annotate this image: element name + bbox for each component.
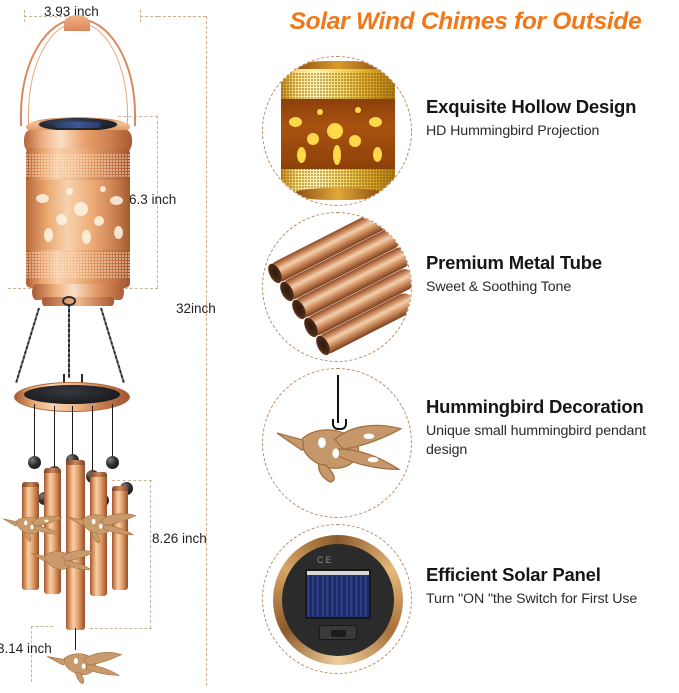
dim-line-width-right: [140, 16, 158, 17]
lantern-handle-peak: [64, 15, 90, 31]
feature-subtitle: Sweet & Soothing Tone: [426, 278, 679, 297]
chime-chain-left: [15, 308, 40, 383]
feature-image-solar-panel-top: CE: [262, 524, 412, 674]
feature-exquisite-hollow-design: Exquisite Hollow Design HD Hummingbird P…: [256, 56, 679, 206]
chime-chain-right: [100, 308, 125, 383]
feature-premium-metal-tube: Premium Metal Tube Sweet & Soothing Tone: [256, 212, 679, 362]
wind-chime-image: [0, 296, 200, 686]
feature-subtitle: Turn "ON "the Switch for First Use: [426, 590, 679, 609]
power-switch[interactable]: [319, 625, 357, 640]
features-panel: Solar Wind Chimes for Outside: [252, 0, 679, 693]
hummingbird-filigree: [275, 405, 403, 491]
chime-chain-center: [68, 304, 70, 378]
feature-hummingbird-decoration: Hummingbird Decoration Unique small humm…: [256, 368, 679, 518]
feature-image-glowing-hollow-lantern: [262, 56, 412, 206]
feature-subtitle: HD Hummingbird Projection: [426, 122, 679, 141]
chime-top-disc-inner: [24, 385, 120, 404]
hummingbird-ornament: [66, 504, 138, 544]
lantern-mesh-top: [26, 154, 130, 178]
solar-lantern-image: [8, 18, 148, 303]
feature-title: Premium Metal Tube: [426, 252, 679, 273]
chime-bead: [28, 456, 41, 469]
page-title: Solar Wind Chimes for Outside: [252, 8, 679, 36]
feature-title: Efficient Solar Panel: [426, 564, 679, 585]
solar-cell: [305, 569, 371, 619]
hummingbird-ornament: [2, 508, 64, 542]
feature-title: Hummingbird Decoration: [426, 396, 679, 417]
lantern-motif-band: [26, 180, 130, 250]
dim-line-total-upper: [206, 16, 207, 303]
product-photo-panel: 3.93 inch 6.3 inch 32inch 8.26 inch 3.14…: [0, 0, 252, 693]
feature-title: Exquisite Hollow Design: [426, 96, 679, 117]
feature-efficient-solar-panel: CE Efficient Solar Panel Turn "ON "the S…: [256, 524, 679, 674]
infographic-page: 3.93 inch 6.3 inch 32inch 8.26 inch 3.14…: [0, 0, 679, 693]
feature-image-copper-metal-tubes: [262, 212, 412, 362]
feature-image-hummingbird-pendant: [262, 368, 412, 518]
feature-subtitle: Unique small hummingbird pendant design: [426, 422, 679, 459]
dim-line-top-extend: [158, 16, 206, 17]
hummingbird-pendant-bottom: [46, 642, 124, 684]
lantern-mesh-bottom: [26, 252, 130, 278]
dim-line-total-lower: [206, 303, 207, 686]
chime-bead: [106, 456, 119, 469]
lantern-body: [26, 148, 130, 288]
panel-marking: CE: [317, 555, 359, 565]
hummingbird-ornament: [30, 542, 96, 578]
